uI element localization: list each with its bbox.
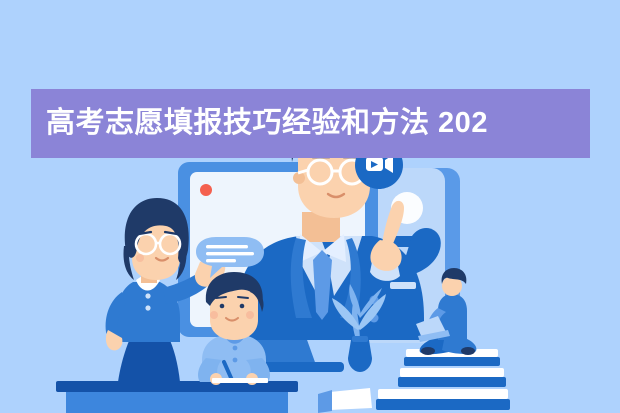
online-education-illustration — [0, 0, 620, 413]
page-title: 高考志愿填报技巧经验和方法 202 — [46, 109, 488, 138]
screen-record-dot — [200, 184, 212, 196]
title-banner: 高考志愿填报技巧经验和方法 202 — [31, 89, 590, 158]
screenshot-root: 高考志愿填报技巧经验和方法 202 — [0, 0, 620, 413]
study-desk — [56, 381, 298, 413]
